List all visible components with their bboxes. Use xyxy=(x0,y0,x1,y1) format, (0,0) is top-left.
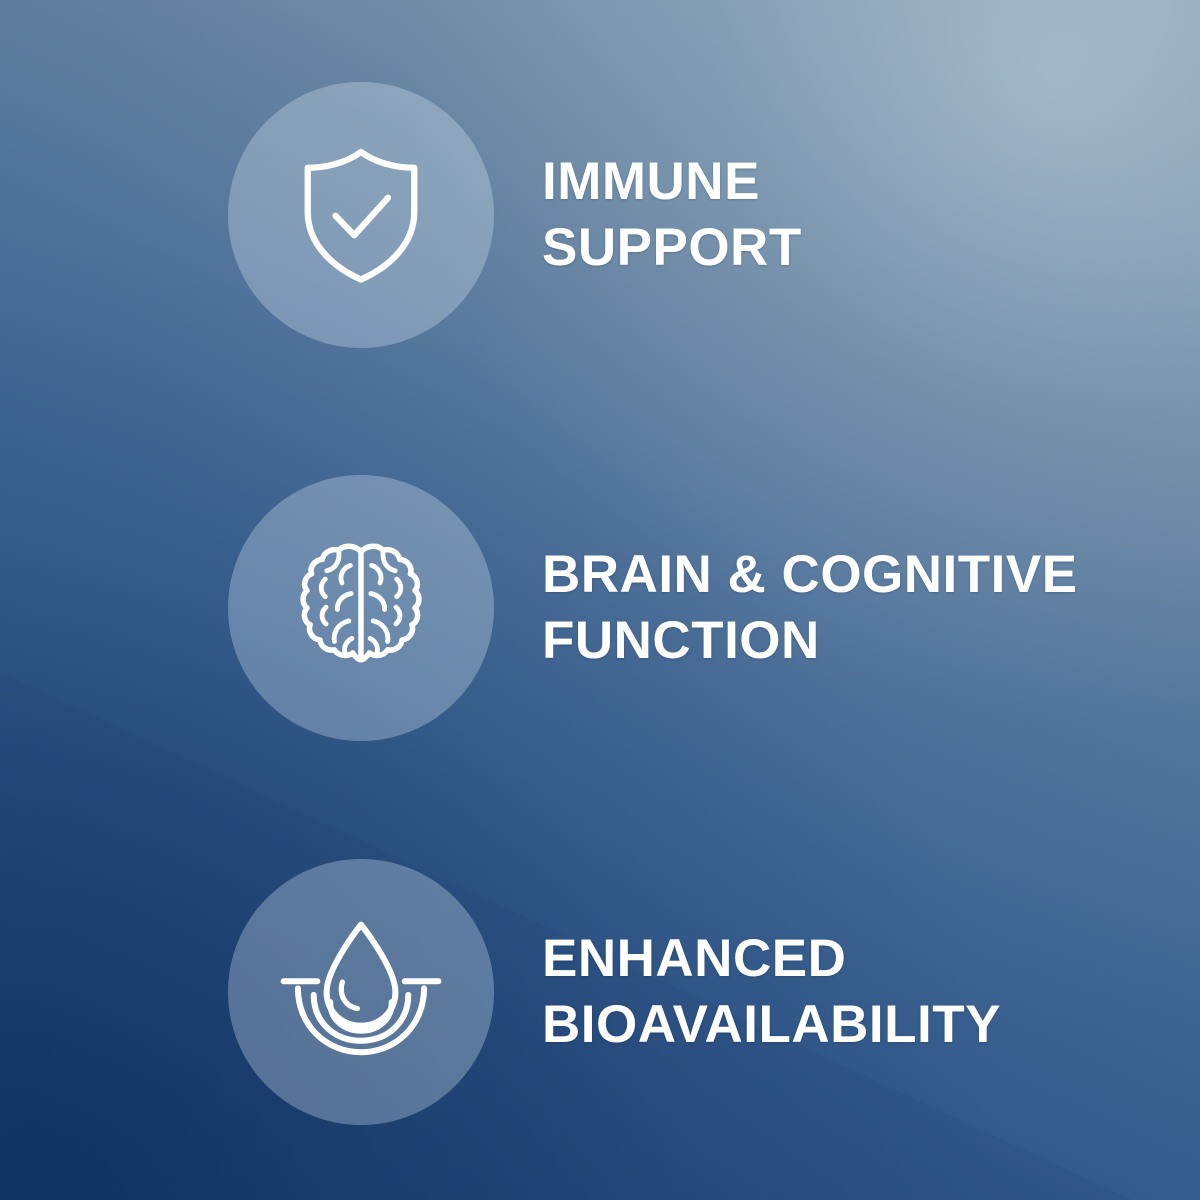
feature-label-brain-cognitive-function: Brain & Cognitive Function xyxy=(542,542,1078,674)
brain-icon xyxy=(285,532,437,684)
feature-list: Immune Support xyxy=(0,0,1200,1200)
icon-badge-brain-cognitive-function xyxy=(228,475,494,741)
feature-label-immune-support: Immune Support xyxy=(542,149,802,281)
icon-badge-immune-support xyxy=(228,82,494,348)
feature-item-immune-support: Immune Support xyxy=(0,82,1200,348)
feature-item-brain-cognitive-function: Brain & Cognitive Function xyxy=(0,475,1200,741)
feature-label-enhanced-bioavailability: Enhanced Bioavailability xyxy=(542,926,1001,1058)
water-droplet-ripple-icon xyxy=(275,906,447,1078)
feature-item-enhanced-bioavailability: Enhanced Bioavailability xyxy=(0,859,1200,1125)
product-benefits-graphic: Immune Support xyxy=(0,0,1200,1200)
shield-check-icon xyxy=(286,140,436,290)
icon-badge-enhanced-bioavailability xyxy=(228,859,494,1125)
